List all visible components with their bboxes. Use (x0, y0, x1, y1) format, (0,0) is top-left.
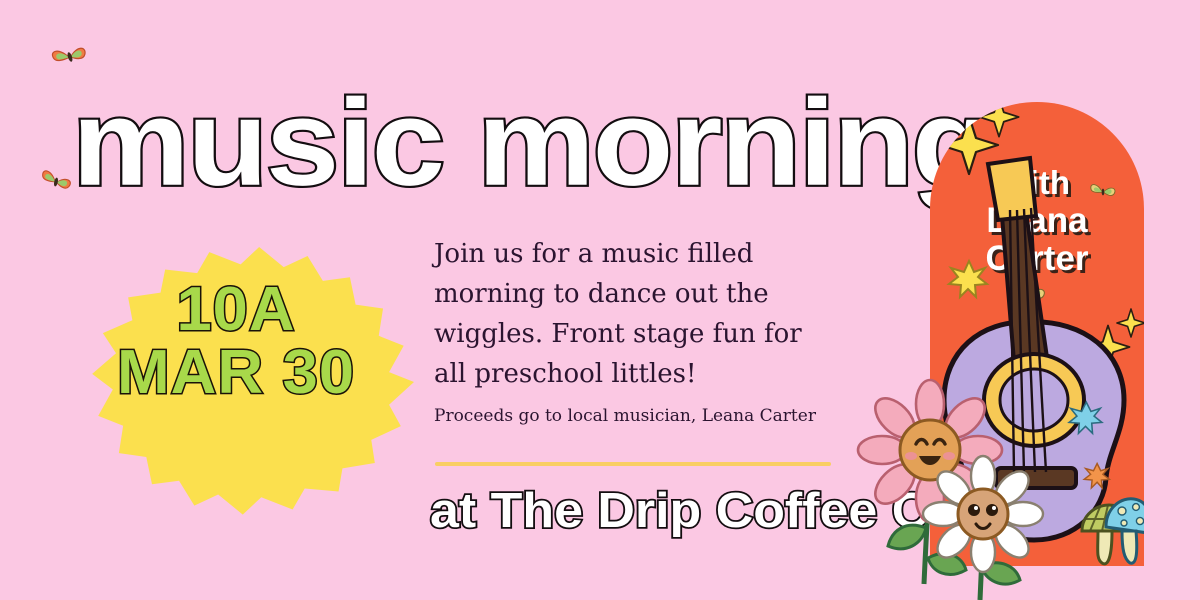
badge-time: 10A (54, 280, 417, 340)
date-time-badge: 10A MAR 30 (58, 232, 414, 532)
butterfly-icon (38, 168, 74, 196)
page-title: music morning (72, 84, 990, 201)
badge-date: MAR 30 (54, 340, 417, 406)
mushroom-icon (1078, 487, 1144, 566)
butterfly-icon (50, 42, 90, 72)
butterfly-icon (1088, 180, 1118, 204)
sparkle-icon (978, 102, 1020, 138)
flower-doodle-icon (949, 261, 987, 297)
badge-text: 10A MAR 30 (58, 280, 414, 406)
proceeds-note: Proceeds go to local musician, Leana Car… (434, 404, 854, 428)
daisy-icon (928, 462, 1038, 600)
event-poster: music morning 10A MAR 30 Join us for a m… (0, 0, 1200, 600)
event-description: Join us for a music filled morning to da… (434, 234, 834, 394)
divider (435, 462, 831, 466)
